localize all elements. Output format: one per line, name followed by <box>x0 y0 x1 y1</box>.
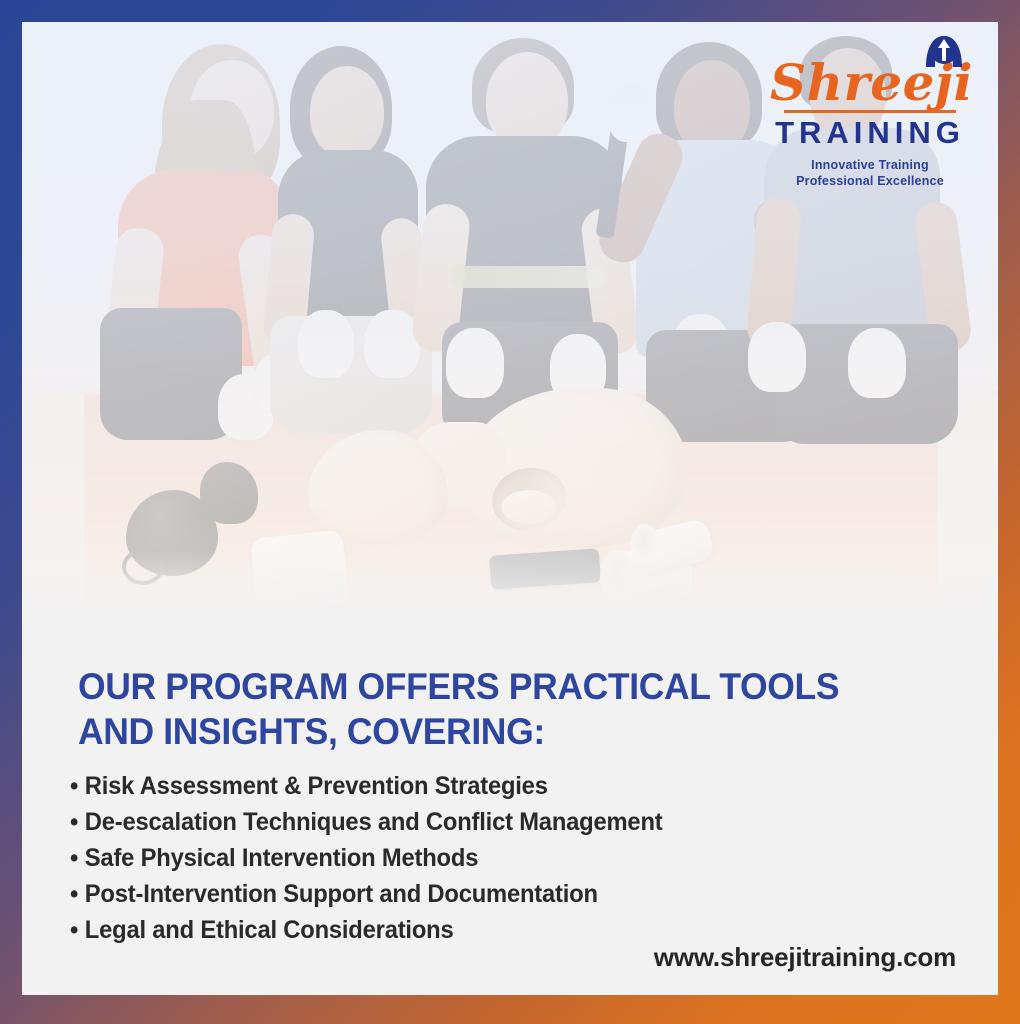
feature-list: •Risk Assessment & Prevention Strategies… <box>70 768 960 948</box>
list-item-label: Post-Intervention Support and Documentat… <box>85 880 598 908</box>
poster-card: Shreeji TRAINING Innovative Training Pro… <box>22 22 998 995</box>
brand-logo[interactable]: Shreeji TRAINING Innovative Training Pro… <box>770 34 970 189</box>
list-item: •Post-Intervention Support and Documenta… <box>70 876 916 912</box>
list-item-label: Safe Physical Intervention Methods <box>85 844 478 872</box>
list-item: •Safe Physical Intervention Methods <box>70 840 916 876</box>
website-url[interactable]: www.shreejitraining.com <box>654 942 956 973</box>
bullet-marker: • <box>70 772 78 800</box>
list-item-label: Legal and Ethical Considerations <box>85 916 454 944</box>
bullet-marker: • <box>70 844 78 872</box>
gauze-pad <box>250 529 350 616</box>
logo-tagline-line2: Professional Excellence <box>770 173 970 189</box>
floor-left <box>22 394 84 622</box>
bandage-roll-end <box>600 550 636 602</box>
list-item-label: De-escalation Techniques and Conflict Ma… <box>85 808 663 836</box>
bullet-marker: • <box>70 880 78 908</box>
arch-upward-arrow-icon <box>924 34 964 68</box>
logo-tagline-line1: Innovative Training <box>770 157 970 173</box>
bvm-ring <box>122 549 164 585</box>
page-title: OUR PROGRAM OFFERS PRACTICAL TOOLS AND I… <box>78 664 925 754</box>
bandage-roll-2-end <box>630 524 660 566</box>
list-item: •De-escalation Techniques and Conflict M… <box>70 804 916 840</box>
logo-tagline: Innovative Training Professional Excelle… <box>770 157 970 189</box>
bullet-marker: • <box>70 808 78 836</box>
list-item-label: Risk Assessment & Prevention Strategies <box>85 772 548 800</box>
poster-frame: Shreeji TRAINING Innovative Training Pro… <box>0 0 1020 1024</box>
content-panel: OUR PROGRAM OFFERS PRACTICAL TOOLS AND I… <box>22 622 998 995</box>
logo-wordmark: TRAINING <box>770 117 970 150</box>
bullet-marker: • <box>70 916 78 944</box>
list-item: •Risk Assessment & Prevention Strategies <box>70 768 916 804</box>
